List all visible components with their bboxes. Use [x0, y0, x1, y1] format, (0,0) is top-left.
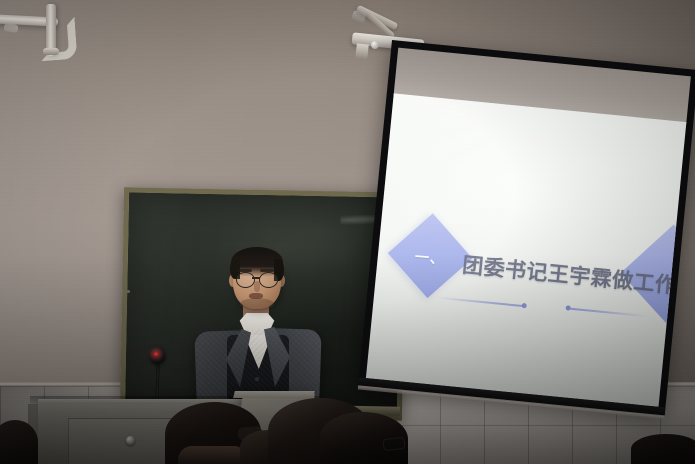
photo-vignette: [0, 0, 695, 464]
classroom-photo-scene: 一、 团委书记王宇霖做工作指导: [0, 0, 695, 464]
